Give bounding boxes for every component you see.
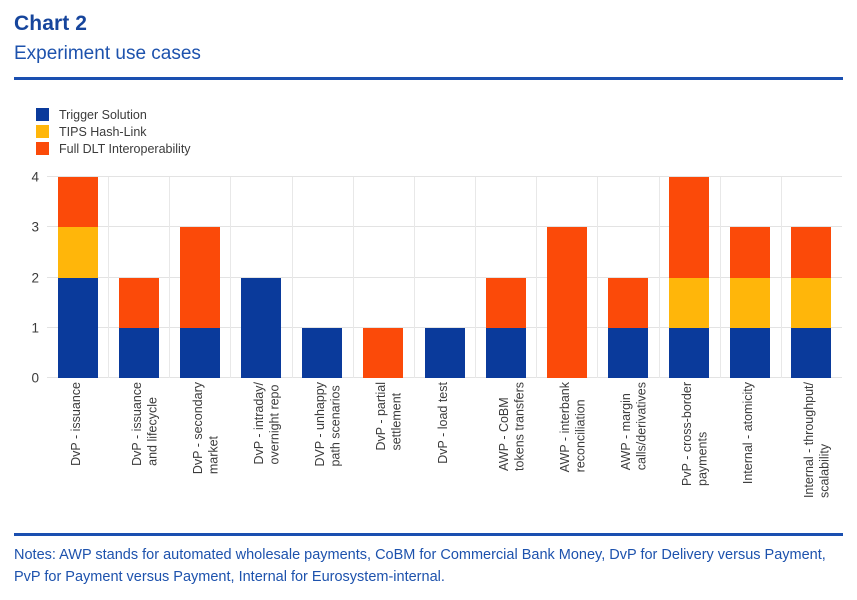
bar-segment[interactable]: [302, 328, 342, 378]
gridline-x-11: [720, 177, 721, 378]
legend-label-full-dlt-interoperability: Full DLT Interoperability: [59, 142, 191, 156]
bar-column[interactable]: [791, 227, 831, 378]
header-divider: [14, 77, 843, 80]
x-tick-label: DvP - intraday/ overnight repo: [252, 382, 283, 464]
bar-segment[interactable]: [58, 177, 98, 227]
x-tick-label: DvP - secondary market: [191, 382, 222, 474]
gridline-x-4: [292, 177, 293, 378]
page-title: Chart 2: [14, 12, 843, 36]
bar-column[interactable]: [425, 328, 465, 378]
bar-segment[interactable]: [119, 278, 159, 328]
legend-swatch-tips-hash-link: [36, 125, 49, 138]
legend-label-tips-hash-link: TIPS Hash-Link: [59, 125, 147, 139]
x-tick-label: AWP - CoBM tokens transfers: [497, 382, 528, 471]
bar-segment[interactable]: [608, 328, 648, 378]
bar-segment[interactable]: [608, 278, 648, 328]
bar-segment[interactable]: [425, 328, 465, 378]
legend-label-trigger-solution: Trigger Solution: [59, 108, 147, 122]
y-tick-label-4: 4: [9, 170, 39, 185]
x-tick-label: AWP - interbank reconciliation: [558, 382, 589, 472]
bar-segment[interactable]: [730, 328, 770, 378]
y-tick-label-1: 1: [9, 320, 39, 335]
chart-legend: Trigger Solution TIPS Hash-Link Full DLT…: [36, 106, 191, 157]
bar-column[interactable]: [119, 278, 159, 379]
bar-segment[interactable]: [241, 278, 281, 379]
gridline-x-7: [475, 177, 476, 378]
plot-area: [47, 177, 842, 378]
bar-segment[interactable]: [730, 227, 770, 277]
x-tick-label: Internal - throughput/ scalability: [802, 382, 833, 498]
gridline-y-3: [47, 226, 842, 227]
bar-column[interactable]: [486, 278, 526, 379]
bar-column[interactable]: [669, 177, 709, 378]
x-tick-label: DvP - issuance: [69, 382, 84, 466]
gridline-x-3: [230, 177, 231, 378]
bar-segment[interactable]: [58, 278, 98, 379]
gridline-x-1: [108, 177, 109, 378]
bar-segment[interactable]: [180, 227, 220, 328]
bar-column[interactable]: [241, 278, 281, 379]
bar-segment[interactable]: [669, 328, 709, 378]
x-tick-label: Internal - atomicity: [741, 382, 756, 484]
y-tick-label-2: 2: [9, 270, 39, 285]
gridline-x-10: [659, 177, 660, 378]
bar-segment[interactable]: [180, 328, 220, 378]
x-tick-label: DvP - load test: [436, 382, 451, 464]
gridline-x-9: [597, 177, 598, 378]
bar-segment[interactable]: [669, 278, 709, 328]
bar-segment[interactable]: [363, 328, 403, 378]
gridline-x-5: [353, 177, 354, 378]
x-tick-label: DVP - unhappy path scenarios: [313, 382, 344, 467]
bar-segment[interactable]: [58, 227, 98, 277]
y-tick-label-0: 0: [9, 371, 39, 386]
bar-column[interactable]: [608, 278, 648, 379]
bar-column[interactable]: [547, 227, 587, 378]
x-tick-label: DvP - issuance and lifecycle: [130, 382, 161, 466]
chart-header: Chart 2 Experiment use cases: [0, 0, 857, 80]
bar-segment[interactable]: [791, 328, 831, 378]
footer-divider: [14, 533, 843, 536]
legend-item-full-dlt-interoperability[interactable]: Full DLT Interoperability: [36, 140, 191, 157]
bar-segment[interactable]: [486, 278, 526, 328]
bar-segment[interactable]: [547, 227, 587, 378]
bar-segment[interactable]: [119, 328, 159, 378]
x-tick-label: AWP - margin calls/derivatives: [619, 382, 650, 470]
bar-segment[interactable]: [669, 177, 709, 278]
bar-column[interactable]: [58, 177, 98, 378]
bar-segment[interactable]: [730, 278, 770, 328]
chart-plot-wrapper: 01234 DvP - issuanceDvP - issuance and l…: [0, 0, 857, 600]
x-tick-label: PvP - cross-border payments: [680, 382, 711, 486]
gridline-x-2: [169, 177, 170, 378]
x-axis-labels: DvP - issuanceDvP - issuance and lifecyc…: [47, 382, 842, 522]
bar-column[interactable]: [363, 328, 403, 378]
x-tick-label: DvP - partial settlement: [374, 382, 405, 451]
gridline-x-12: [781, 177, 782, 378]
bar-column[interactable]: [180, 227, 220, 378]
gridline-y-2: [47, 277, 842, 278]
gridline-y-4: [47, 176, 842, 177]
bar-column[interactable]: [730, 227, 770, 378]
page-subtitle: Experiment use cases: [14, 42, 843, 67]
bar-segment[interactable]: [791, 278, 831, 328]
legend-swatch-full-dlt-interoperability: [36, 142, 49, 155]
bar-segment[interactable]: [791, 227, 831, 277]
gridline-x-8: [536, 177, 537, 378]
bar-segment[interactable]: [486, 328, 526, 378]
legend-item-tips-hash-link[interactable]: TIPS Hash-Link: [36, 123, 191, 140]
chart-notes: Notes: AWP stands for automated wholesal…: [14, 544, 845, 589]
y-tick-label-3: 3: [9, 220, 39, 235]
gridline-x-6: [414, 177, 415, 378]
bar-column[interactable]: [302, 328, 342, 378]
legend-swatch-trigger-solution: [36, 108, 49, 121]
legend-item-trigger-solution[interactable]: Trigger Solution: [36, 106, 191, 123]
